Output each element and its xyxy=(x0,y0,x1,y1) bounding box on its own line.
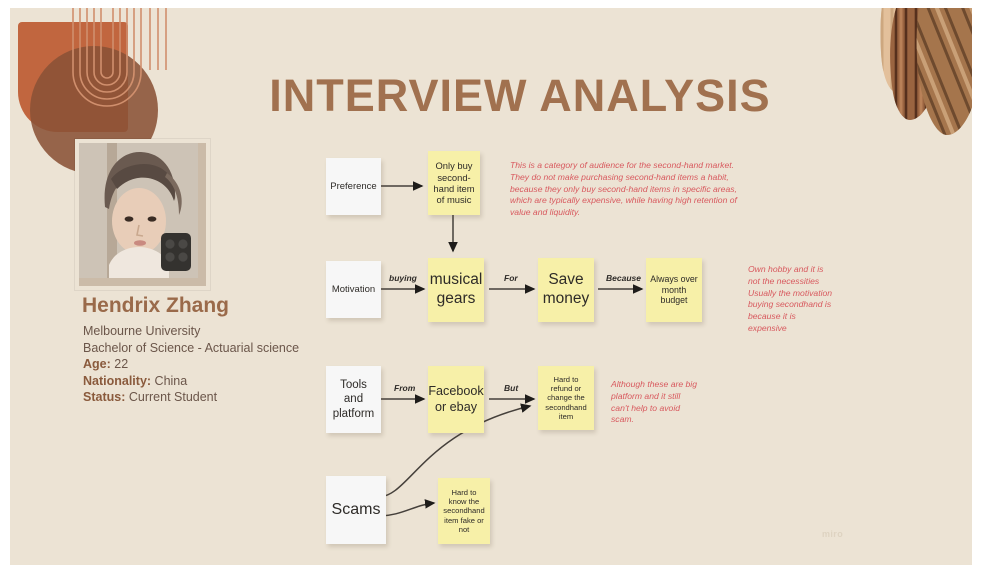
annotation-motivation: Own hobby and it is not the necessities … xyxy=(748,264,836,335)
node-label: Only buy second-hand item of music xyxy=(432,160,476,206)
edge-label-from: From xyxy=(394,383,415,393)
profile-age-value: 22 xyxy=(114,357,128,371)
annotation-text: Own hobby and it is not the necessities … xyxy=(748,264,832,333)
node-label: Facebook or ebay xyxy=(428,384,483,415)
node-save-money[interactable]: Save money xyxy=(538,258,594,322)
node-label: Motivation xyxy=(332,284,375,296)
node-label: Always over month budget xyxy=(650,274,698,306)
profile-university: Melbourne University xyxy=(83,323,353,340)
profile-nationality-label: Nationality: xyxy=(83,374,151,388)
node-only-buy-secondhand-music[interactable]: Only buy second-hand item of music xyxy=(428,151,480,215)
node-tools-and-platform[interactable]: Tools and platform xyxy=(326,366,381,433)
node-label: Hard to refund or change the secondhand … xyxy=(542,375,590,421)
node-musical-gears[interactable]: musical gears xyxy=(428,258,484,322)
node-label: Save money xyxy=(542,271,590,309)
edge-label-because: Because xyxy=(606,273,641,283)
presentation-board: INTERVIEW ANALYSIS He xyxy=(0,0,1000,575)
edge-label-buying: buying xyxy=(389,273,417,283)
edge-label-for: For xyxy=(504,273,518,283)
node-always-over-month-budget[interactable]: Always over month budget xyxy=(646,258,702,322)
avatar xyxy=(75,139,210,290)
profile-name: Hendrix Zhang xyxy=(82,294,229,318)
miro-watermark: miro xyxy=(822,529,843,539)
profile-status-label: Status: xyxy=(83,390,125,404)
node-motivation[interactable]: Motivation xyxy=(326,261,381,318)
profile-status: Status: Current Student xyxy=(83,389,353,406)
profile-nationality: Nationality: China xyxy=(83,373,353,390)
node-label: Preference xyxy=(330,181,376,193)
profile-age-label: Age: xyxy=(83,357,111,371)
node-label: Hard to know the secondhand item fake or… xyxy=(442,488,486,534)
decoration-arc-lines xyxy=(72,8,192,133)
profile-details: Melbourne University Bachelor of Science… xyxy=(83,323,353,406)
node-label: musical gears xyxy=(430,271,483,309)
page-title: INTERVIEW ANALYSIS xyxy=(260,70,780,122)
node-hard-to-know-fake[interactable]: Hard to know the secondhand item fake or… xyxy=(438,478,490,544)
annotation-text: Although these are big platform and it s… xyxy=(611,379,697,424)
node-facebook-or-ebay[interactable]: Facebook or ebay xyxy=(428,366,484,433)
slide-canvas: INTERVIEW ANALYSIS He xyxy=(10,8,972,565)
profile-age: Age: 22 xyxy=(83,356,353,373)
node-hard-to-refund[interactable]: Hard to refund or change the secondhand … xyxy=(538,366,594,430)
node-label: Scams xyxy=(332,500,381,520)
annotation-preference: This is a category of audience for the s… xyxy=(510,160,747,219)
node-scams[interactable]: Scams xyxy=(326,476,386,544)
annotation-platform: Although these are big platform and it s… xyxy=(611,379,699,426)
annotation-text: This is a category of audience for the s… xyxy=(510,160,737,217)
node-label: Tools and platform xyxy=(330,378,377,420)
edge-label-but: But xyxy=(504,383,518,393)
decoration-leaves xyxy=(838,8,972,158)
profile-nationality-value: China xyxy=(155,374,188,388)
node-preference[interactable]: Preference xyxy=(326,158,381,215)
profile-degree: Bachelor of Science - Actuarial science xyxy=(83,340,353,357)
profile-status-value: Current Student xyxy=(129,390,217,404)
